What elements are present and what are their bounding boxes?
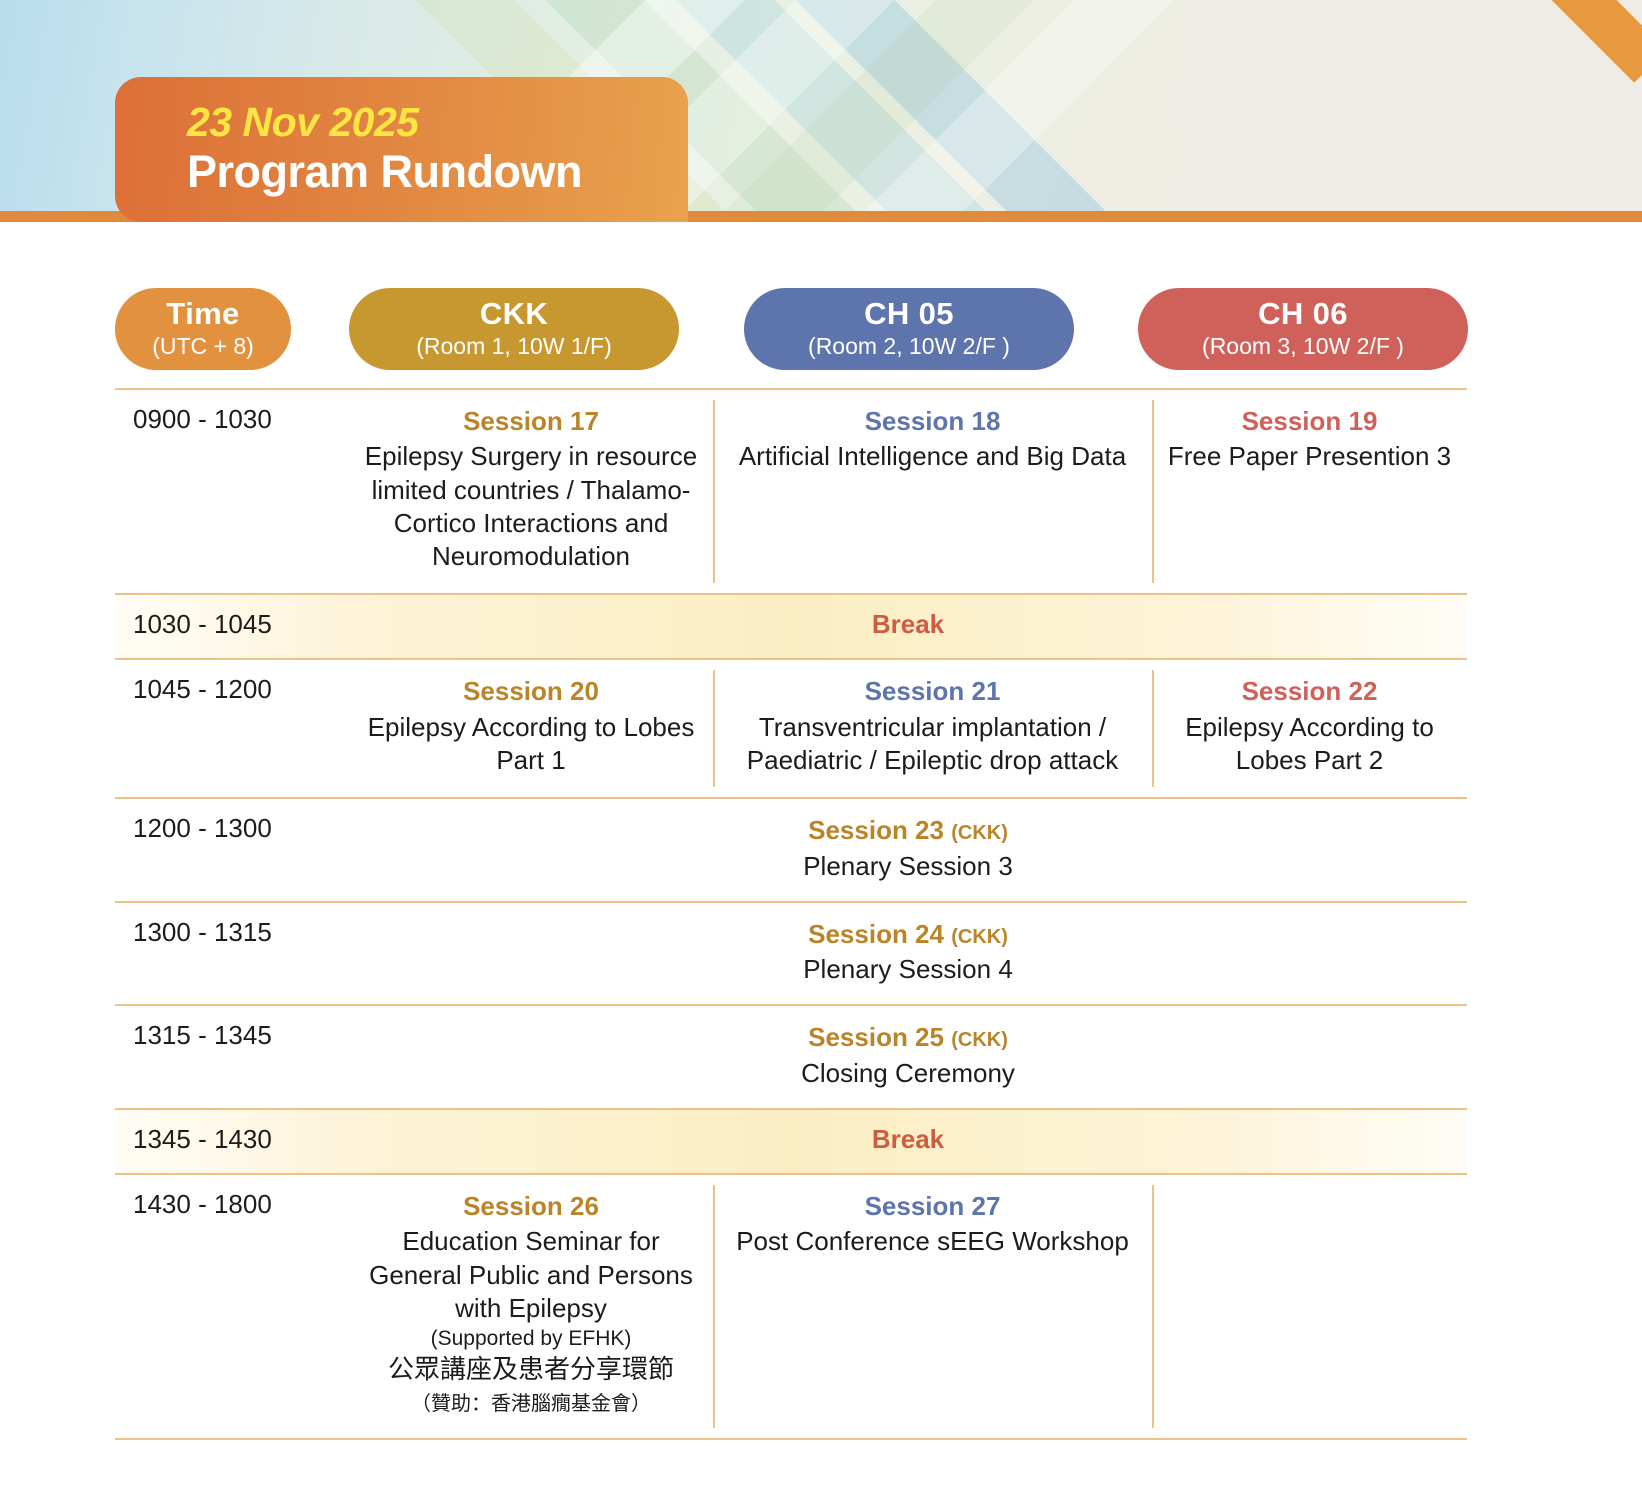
cell-ch05[interactable]: Session 27 Post Conference sEEG Workshop	[713, 1175, 1152, 1438]
page-header-banner: 23 Nov 2025 Program Rundown	[0, 0, 1642, 222]
schedule-row-plenary: 1200 - 1300 Session 23 (CKK) Plenary Ses…	[115, 799, 1467, 903]
session-description: Transventricular implantation / Paediatr…	[727, 711, 1138, 778]
column-divider	[713, 1185, 715, 1428]
row-time: 0900 - 1030	[115, 390, 349, 593]
session-description: Artificial Intelligence and Big Data	[727, 440, 1138, 473]
session-label: Session 18	[727, 404, 1138, 438]
row-time: 1300 - 1315	[115, 903, 349, 1005]
column-header-ch05-sub: (Room 2, 10W 2/F )	[744, 335, 1074, 358]
column-divider	[1152, 1185, 1154, 1428]
column-divider	[1152, 670, 1154, 787]
column-header-ch06-sub: (Room 3, 10W 2/F )	[1138, 335, 1468, 358]
column-headers: Time (UTC + 8) CKK (Room 1, 10W 1/F) CH …	[0, 288, 1642, 388]
row-time: 1430 - 1800	[115, 1175, 349, 1438]
cell-ch05[interactable]: Session 18 Artificial Intelligence and B…	[713, 390, 1152, 593]
cell-ckk[interactable]: Session 17 Epilepsy Surgery in resource …	[349, 390, 713, 593]
break-label: Break	[349, 595, 1467, 658]
row-time: 1345 - 1430	[115, 1110, 349, 1173]
cell-ckk[interactable]: Session 26 Education Seminar for General…	[349, 1175, 713, 1438]
row-time: 1200 - 1300	[115, 799, 349, 901]
cell-ckk[interactable]: Session 20 Epilepsy According to Lobes P…	[349, 660, 713, 797]
session-label: Session 25	[808, 1022, 944, 1052]
column-header-time-sub: (UTC + 8)	[115, 335, 291, 358]
session-description: Epilepsy According to Lobes Part 1	[363, 711, 699, 778]
session-description: Free Paper Presention 3	[1166, 440, 1453, 473]
column-header-ch05: CH 05 (Room 2, 10W 2/F )	[744, 288, 1074, 370]
session-label: Session 20	[363, 674, 699, 708]
row-time: 1030 - 1045	[115, 595, 349, 658]
session-venue: (CKK)	[951, 822, 1008, 844]
column-header-ckk-name: CKK	[349, 298, 679, 329]
session-label: Session 27	[727, 1189, 1138, 1223]
schedule-row-plenary: 1300 - 1315 Session 24 (CKK) Plenary Ses…	[115, 903, 1467, 1007]
cell-plenary[interactable]: Session 24 (CKK) Plenary Session 4	[349, 903, 1467, 1005]
column-header-time-name: Time	[115, 298, 291, 329]
session-description: Epilepsy According to Lobes Part 2	[1166, 711, 1453, 778]
session-label: Session 19	[1166, 404, 1453, 438]
session-description: Education Seminar for General Public and…	[363, 1225, 699, 1325]
column-divider	[1152, 400, 1154, 583]
column-header-time: Time (UTC + 8)	[115, 288, 291, 370]
column-header-ch06-name: CH 06	[1138, 298, 1468, 329]
break-label: Break	[349, 1110, 1467, 1173]
column-header-ckk: CKK (Room 1, 10W 1/F)	[349, 288, 679, 370]
cell-plenary[interactable]: Session 23 (CKK) Plenary Session 3	[349, 799, 1467, 901]
schedule-row-break: 1345 - 1430 Break	[115, 1110, 1467, 1175]
session-description: Closing Ceremony	[363, 1057, 1453, 1090]
cell-ch06[interactable]: Session 22 Epilepsy According to Lobes P…	[1152, 660, 1467, 797]
session-label: Session 22	[1166, 674, 1453, 708]
session-description: Post Conference sEEG Workshop	[727, 1225, 1138, 1258]
cell-ch05[interactable]: Session 21 Transventricular implantation…	[713, 660, 1152, 797]
session-label: Session 23	[808, 815, 944, 845]
session-label: Session 21	[727, 674, 1138, 708]
schedule-sheet: Time (UTC + 8) CKK (Room 1, 10W 1/F) CH …	[0, 222, 1642, 1440]
session-venue: (CKK)	[951, 926, 1008, 948]
session-description: Plenary Session 4	[363, 953, 1453, 986]
program-title-card: 23 Nov 2025 Program Rundown	[115, 77, 688, 222]
schedule-row-plenary: 1315 - 1345 Session 25 (CKK) Closing Cer…	[115, 1006, 1467, 1110]
program-date: 23 Nov 2025	[187, 101, 688, 144]
session-sponsor-note-cjk: （贊助：香港腦癇基金會）	[363, 1389, 699, 1417]
session-label: Session 26	[363, 1189, 699, 1223]
session-description: Plenary Session 3	[363, 850, 1453, 883]
cell-plenary[interactable]: Session 25 (CKK) Closing Ceremony	[349, 1006, 1467, 1108]
schedule-row-break: 1030 - 1045 Break	[115, 595, 1467, 660]
column-divider	[713, 670, 715, 787]
column-header-ckk-sub: (Room 1, 10W 1/F)	[349, 335, 679, 358]
session-description-cjk: 公眾講座及患者分享環節	[363, 1353, 699, 1388]
schedule-row: 0900 - 1030 Session 17 Epilepsy Surgery …	[115, 390, 1467, 595]
column-header-ch06: CH 06 (Room 3, 10W 2/F )	[1138, 288, 1468, 370]
schedule-row: 1430 - 1800 Session 26 Education Seminar…	[115, 1175, 1467, 1440]
page-title: Program Rundown	[187, 144, 688, 200]
row-time: 1045 - 1200	[115, 660, 349, 797]
session-label: Session 24	[808, 919, 944, 949]
cell-ch06[interactable]: Session 19 Free Paper Presention 3	[1152, 390, 1467, 593]
row-time: 1315 - 1345	[115, 1006, 349, 1108]
session-sponsor-note: (Supported by EFHK)	[363, 1325, 699, 1353]
column-header-ch05-name: CH 05	[744, 298, 1074, 329]
schedule-row: 1045 - 1200 Session 20 Epilepsy Accordin…	[115, 660, 1467, 799]
session-description: Epilepsy Surgery in resource limited cou…	[363, 440, 699, 573]
column-divider	[713, 400, 715, 583]
schedule-grid: 0900 - 1030 Session 17 Epilepsy Surgery …	[115, 388, 1467, 1440]
session-label: Session 17	[363, 404, 699, 438]
session-venue: (CKK)	[951, 1029, 1008, 1051]
cell-ch06	[1152, 1175, 1467, 1438]
